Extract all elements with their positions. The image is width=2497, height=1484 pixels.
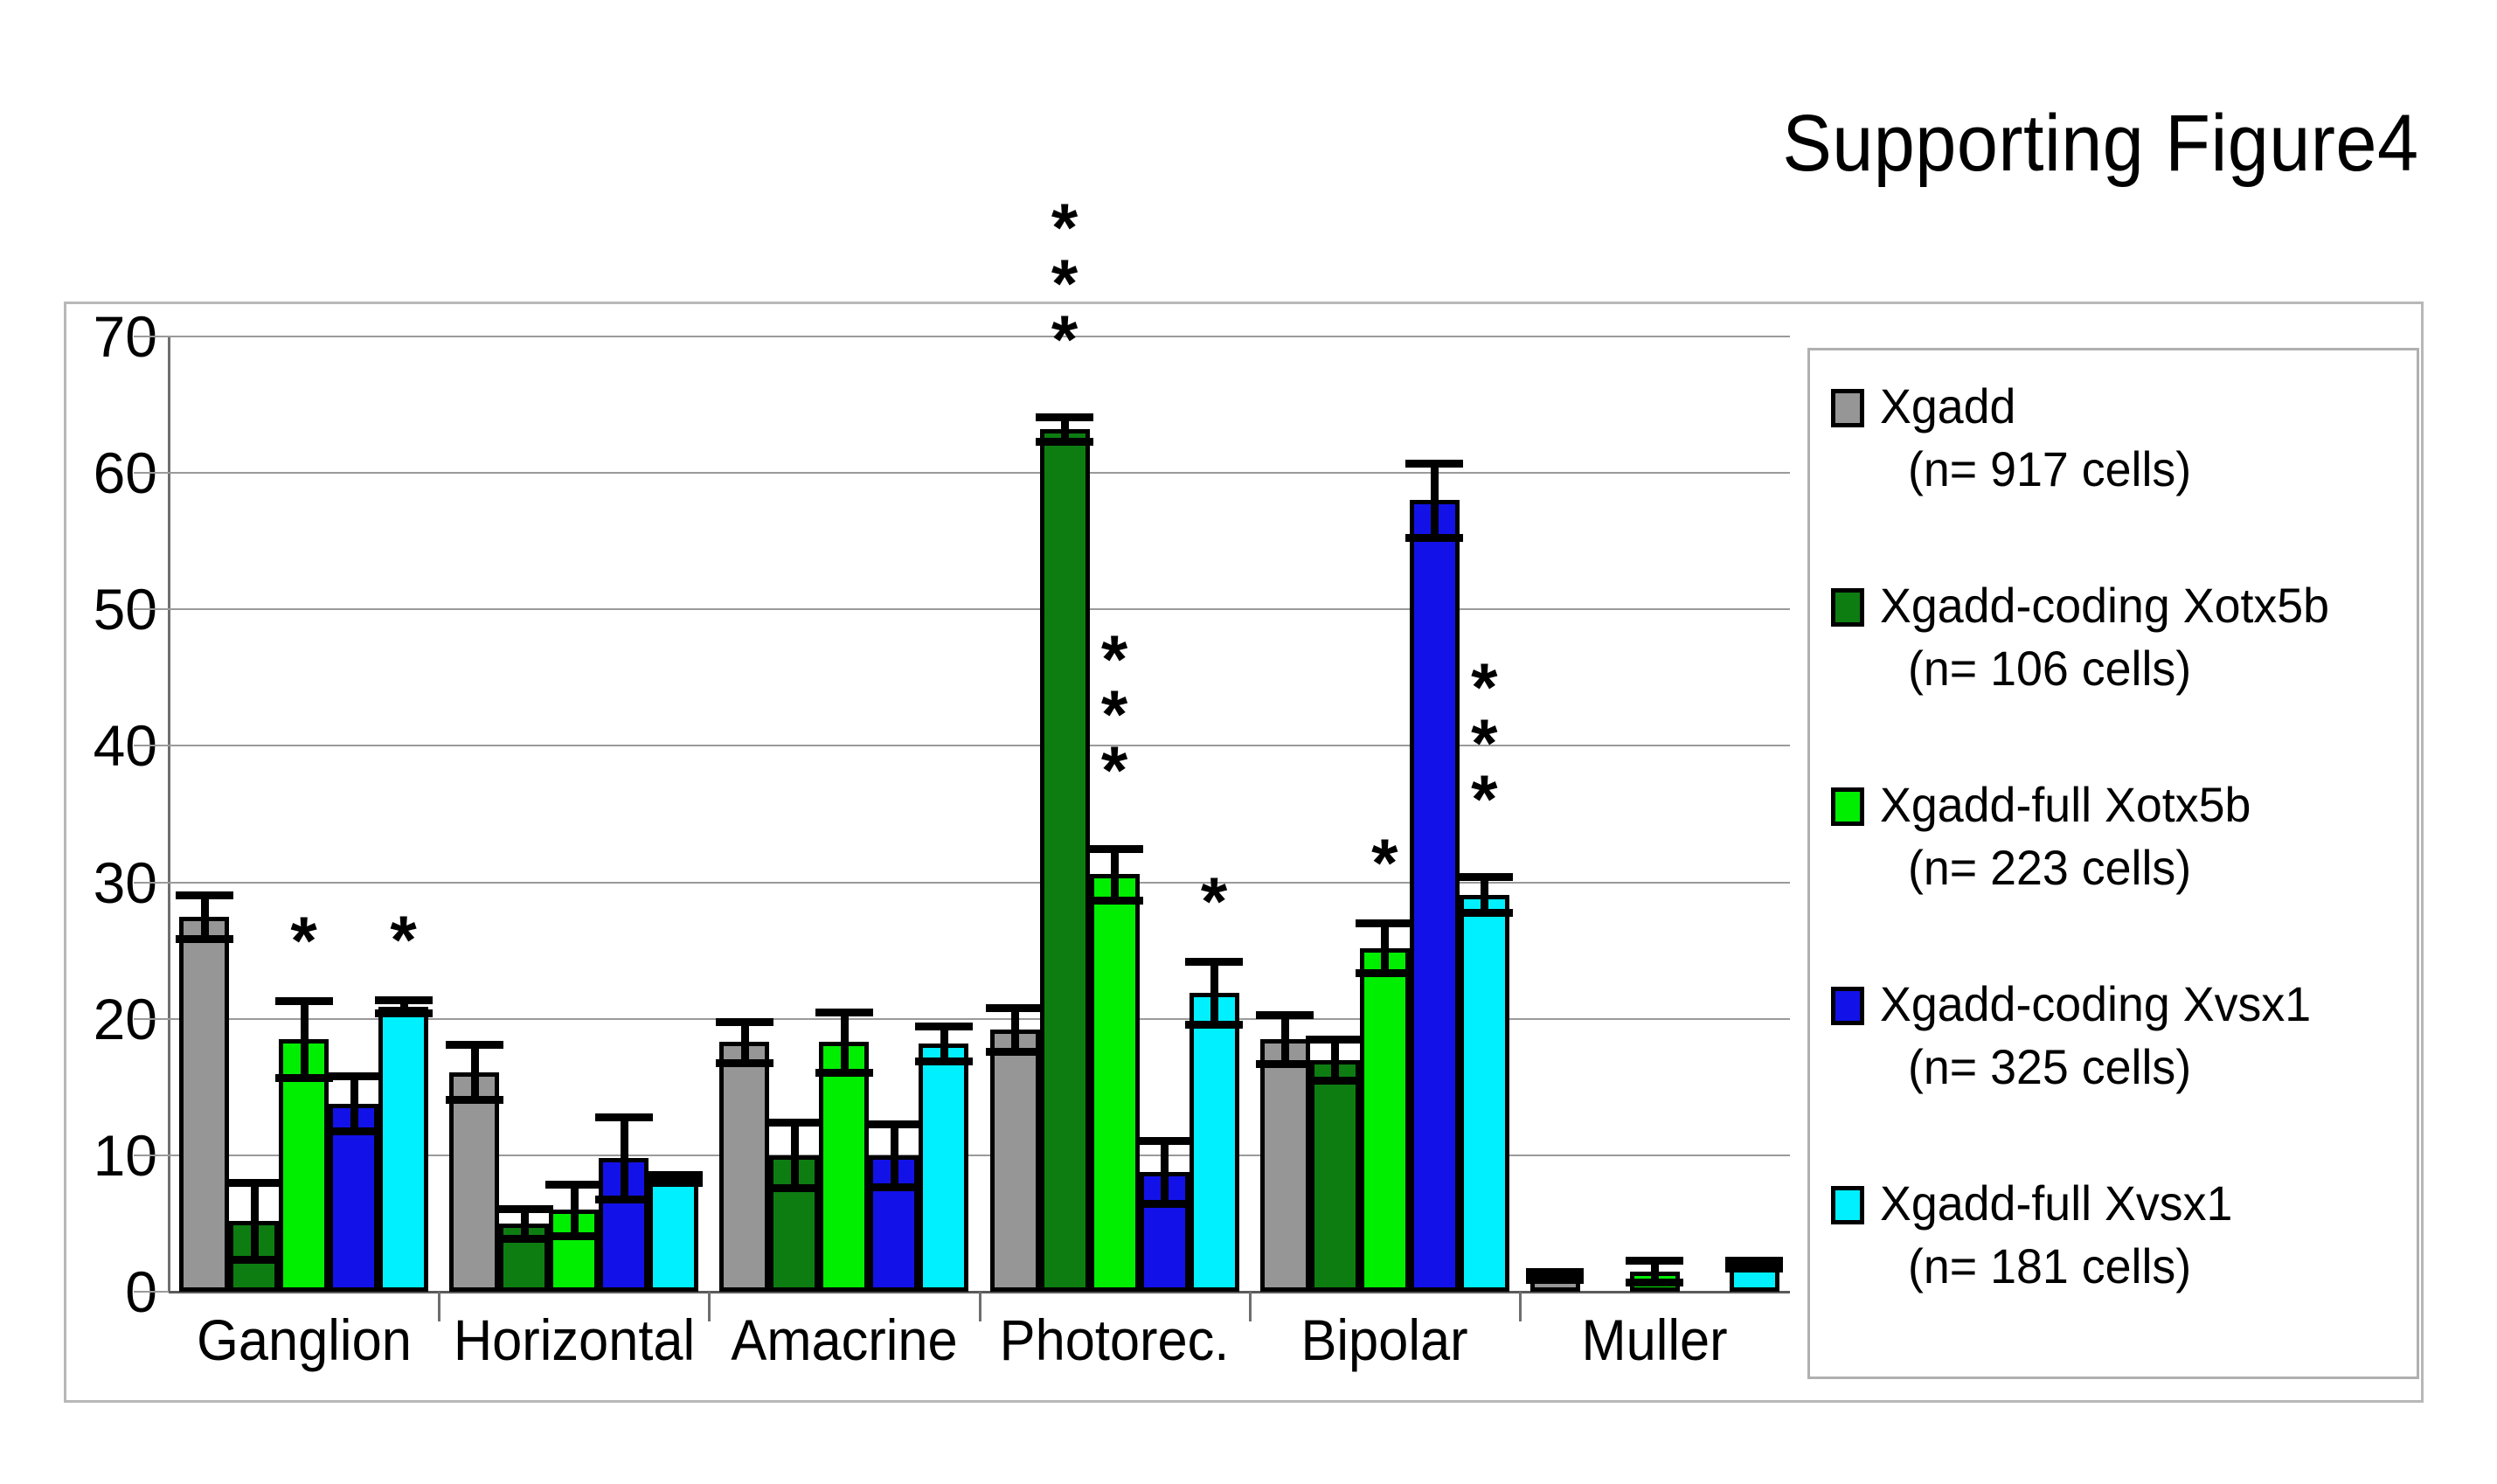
y-axis-tick bbox=[134, 745, 169, 746]
error-bar-cap-lower bbox=[176, 935, 233, 943]
error-bar-stem bbox=[841, 1012, 849, 1072]
bar bbox=[1090, 874, 1140, 1292]
gridline bbox=[169, 608, 1790, 610]
error-bar-stem bbox=[301, 1001, 309, 1077]
error-bar-cap-upper bbox=[815, 1009, 873, 1016]
bar bbox=[1040, 429, 1090, 1292]
bar bbox=[990, 1030, 1040, 1292]
error-bar-cap-upper bbox=[1086, 845, 1143, 853]
error-bar-cap-upper bbox=[915, 1023, 973, 1030]
bar bbox=[1460, 895, 1509, 1292]
bar bbox=[1310, 1060, 1360, 1292]
error-bar-cap-lower bbox=[1185, 1021, 1243, 1029]
error-bar-cap-upper bbox=[1626, 1257, 1683, 1265]
y-axis-tick bbox=[134, 472, 169, 474]
error-bar-stem bbox=[1331, 1039, 1339, 1080]
bar bbox=[1360, 948, 1410, 1292]
x-axis-category-label: Muller bbox=[1582, 1311, 1728, 1369]
error-bar-cap-upper bbox=[375, 996, 433, 1004]
significance-marker: *** bbox=[1471, 660, 1497, 828]
error-bar-cap-upper bbox=[275, 997, 333, 1005]
error-bar-cap-upper bbox=[1036, 413, 1093, 421]
error-bar-cap-lower bbox=[986, 1048, 1044, 1056]
category-separator bbox=[438, 1292, 440, 1321]
error-bar-cap-upper bbox=[1185, 958, 1243, 966]
error-bar-cap-upper bbox=[1405, 460, 1463, 468]
gridline bbox=[169, 336, 1790, 337]
error-bar-cap-lower bbox=[1306, 1077, 1363, 1085]
legend-series-count: (n= 223 cells) bbox=[1908, 843, 2191, 892]
error-bar-cap-lower bbox=[325, 1127, 383, 1135]
error-bar-stem bbox=[1431, 463, 1439, 537]
legend-swatch-icon bbox=[1831, 987, 1864, 1025]
error-bar-stem bbox=[201, 895, 209, 939]
significance-marker: * bbox=[290, 913, 316, 969]
error-bar-cap-lower bbox=[1256, 1060, 1314, 1068]
error-bar-cap-upper bbox=[1135, 1137, 1193, 1145]
y-axis-tick bbox=[134, 882, 169, 884]
bar bbox=[919, 1044, 968, 1292]
y-axis-tick bbox=[134, 1155, 169, 1156]
plot-inner: ************* bbox=[169, 336, 1790, 1292]
error-bar-cap-lower bbox=[1135, 1200, 1193, 1208]
y-axis-labels: 010203040506070 bbox=[52, 336, 157, 1292]
gridline bbox=[169, 882, 1790, 884]
y-axis-spine bbox=[168, 336, 170, 1292]
error-bar-cap-lower bbox=[1086, 897, 1143, 905]
error-bar-cap-lower bbox=[716, 1059, 773, 1067]
error-bar-stem bbox=[1381, 923, 1389, 972]
error-bar-cap-lower bbox=[446, 1096, 503, 1104]
bar bbox=[179, 917, 229, 1292]
category-separator bbox=[1519, 1292, 1522, 1321]
error-bar-cap-lower bbox=[375, 1009, 433, 1017]
bar bbox=[819, 1042, 869, 1292]
error-bar-stem bbox=[1111, 849, 1119, 900]
error-bar-cap-lower bbox=[915, 1058, 973, 1065]
gridline bbox=[169, 472, 1790, 474]
error-bar-cap-upper bbox=[1725, 1257, 1783, 1265]
category-separator bbox=[1249, 1292, 1252, 1321]
category-separator bbox=[979, 1292, 981, 1321]
legend-swatch-icon bbox=[1831, 1186, 1864, 1224]
error-bar-cap-lower bbox=[645, 1179, 703, 1187]
error-bar-stem bbox=[521, 1209, 529, 1238]
x-axis-category-label: Amacrine bbox=[731, 1311, 957, 1369]
error-bar-cap-upper bbox=[595, 1113, 653, 1121]
bar bbox=[649, 1178, 698, 1292]
error-bar-cap-lower bbox=[1036, 438, 1093, 446]
error-bar-cap-upper bbox=[545, 1181, 603, 1189]
error-bar-cap-lower bbox=[1725, 1265, 1783, 1272]
gridline bbox=[169, 745, 1790, 746]
y-axis-tick bbox=[134, 1018, 169, 1020]
error-bar-cap-lower bbox=[1526, 1276, 1584, 1284]
error-bar-cap-upper bbox=[176, 891, 233, 899]
legend-series-name: Xgadd-coding Xvsx1 bbox=[1880, 980, 2311, 1029]
error-bar-cap-upper bbox=[766, 1119, 823, 1127]
error-bar-stem bbox=[621, 1117, 628, 1199]
legend-series-name: Xgadd-full Xvsx1 bbox=[1880, 1179, 2232, 1228]
error-bar-cap-upper bbox=[1526, 1268, 1584, 1276]
error-bar-cap-upper bbox=[716, 1018, 773, 1026]
error-bar-cap-upper bbox=[225, 1179, 283, 1187]
error-bar-cap-upper bbox=[325, 1072, 383, 1080]
bar bbox=[719, 1042, 769, 1292]
error-bar-stem bbox=[1011, 1008, 1019, 1051]
error-bar-cap-lower bbox=[1626, 1279, 1683, 1286]
error-bar-cap-lower bbox=[815, 1069, 873, 1077]
error-bar-cap-lower bbox=[225, 1256, 283, 1264]
legend-swatch-icon bbox=[1831, 389, 1864, 427]
y-axis-tick bbox=[134, 608, 169, 610]
error-bar-stem bbox=[1210, 961, 1218, 1024]
significance-marker: * bbox=[390, 912, 416, 968]
legend-series-name: Xgadd-full Xotx5b bbox=[1880, 780, 2251, 829]
legend-swatch-icon bbox=[1831, 588, 1864, 627]
significance-marker: * bbox=[1201, 874, 1227, 930]
error-bar-cap-lower bbox=[766, 1184, 823, 1192]
error-bar-stem bbox=[571, 1184, 579, 1236]
legend-swatch-icon bbox=[1831, 787, 1864, 826]
legend-series-name: Xgadd-coding Xotx5b bbox=[1880, 581, 2329, 630]
legend-series-name: Xgadd bbox=[1880, 382, 2015, 431]
error-bar-stem bbox=[940, 1026, 948, 1062]
bar bbox=[1410, 500, 1460, 1292]
error-bar-stem bbox=[891, 1124, 898, 1187]
error-bar-stem bbox=[741, 1022, 749, 1063]
error-bar-cap-lower bbox=[595, 1196, 653, 1203]
x-axis-category-label: Horizontal bbox=[454, 1311, 695, 1369]
significance-marker: *** bbox=[1051, 200, 1078, 368]
error-bar-stem bbox=[1161, 1141, 1169, 1203]
error-bar-stem bbox=[791, 1122, 799, 1188]
legend-series-count: (n= 325 cells) bbox=[1908, 1043, 2191, 1092]
bar bbox=[378, 1007, 428, 1292]
error-bar-cap-upper bbox=[1455, 873, 1513, 881]
legend-series-count: (n= 917 cells) bbox=[1908, 445, 2191, 494]
legend-series-count: (n= 106 cells) bbox=[1908, 644, 2191, 693]
error-bar-stem bbox=[1481, 877, 1488, 912]
significance-marker: * bbox=[1371, 836, 1398, 891]
page-title: Supporting Figure4 bbox=[1782, 103, 2418, 184]
error-bar-cap-lower bbox=[1356, 969, 1413, 977]
y-axis-tick bbox=[134, 1291, 169, 1293]
legend: Xgadd(n= 917 cells)Xgadd-coding Xotx5b(n… bbox=[1807, 348, 2419, 1379]
bar bbox=[1260, 1039, 1310, 1292]
error-bar-stem bbox=[471, 1044, 479, 1099]
error-bar-cap-lower bbox=[865, 1183, 923, 1191]
category-separator bbox=[708, 1292, 711, 1321]
error-bar-cap-upper bbox=[446, 1041, 503, 1049]
x-axis-category-label: Bipolar bbox=[1301, 1311, 1468, 1369]
error-bar-cap-upper bbox=[1356, 919, 1413, 927]
x-axis-category-label: Photorec. bbox=[1000, 1311, 1230, 1369]
error-bar-cap-lower bbox=[1405, 534, 1463, 542]
bar bbox=[1190, 993, 1239, 1292]
x-axis-category-label: Ganglion bbox=[197, 1311, 412, 1369]
error-bar-stem bbox=[1281, 1015, 1289, 1064]
error-bar-cap-upper bbox=[986, 1004, 1044, 1012]
error-bar-cap-lower bbox=[1455, 909, 1513, 917]
error-bar-cap-upper bbox=[1256, 1011, 1314, 1019]
error-bar-cap-upper bbox=[645, 1171, 703, 1179]
error-bar-cap-upper bbox=[865, 1120, 923, 1128]
significance-marker: *** bbox=[1101, 632, 1127, 800]
error-bar-stem bbox=[251, 1182, 259, 1259]
legend-series-count: (n= 181 cells) bbox=[1908, 1242, 2191, 1291]
error-bar-cap-lower bbox=[545, 1232, 603, 1240]
plot-area: ************* bbox=[169, 336, 1790, 1292]
error-bar-stem bbox=[350, 1076, 358, 1130]
error-bar-cap-upper bbox=[496, 1205, 553, 1213]
bar bbox=[449, 1072, 499, 1292]
error-bar-cap-upper bbox=[1306, 1036, 1363, 1044]
y-axis-tick bbox=[134, 336, 169, 337]
